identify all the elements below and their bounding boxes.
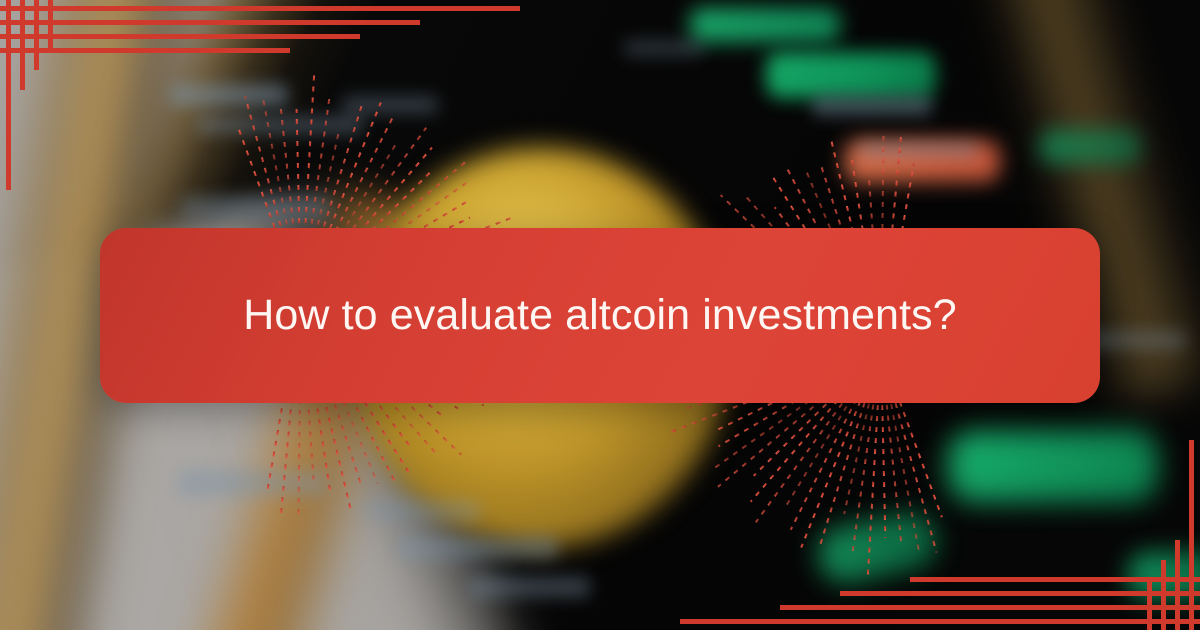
app-text-row xyxy=(858,142,978,158)
app-green-row-2 xyxy=(690,8,840,42)
app-text-row xyxy=(360,500,480,522)
app-green-checkmark-right xyxy=(948,430,1158,502)
app-text-row xyxy=(624,40,704,56)
share-card: How to evaluate altcoin investments? xyxy=(0,0,1200,630)
app-text-row xyxy=(170,84,288,106)
app-green-row-3 xyxy=(1040,130,1140,164)
app-text-row xyxy=(398,536,558,560)
app-text-row xyxy=(342,96,438,114)
app-text-row xyxy=(470,576,590,598)
page-title: How to evaluate altcoin investments? xyxy=(203,292,996,339)
app-text-row xyxy=(178,470,326,496)
app-text-row xyxy=(812,96,932,116)
app-green-row-1 xyxy=(766,52,936,98)
title-banner: How to evaluate altcoin investments? xyxy=(100,228,1100,403)
